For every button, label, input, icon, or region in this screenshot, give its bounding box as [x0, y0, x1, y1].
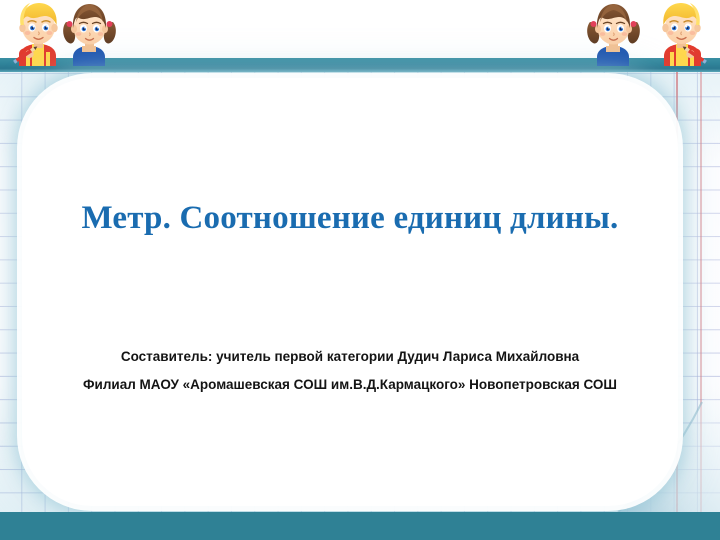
- page-title: Метр. Соотношение единиц длины.: [22, 200, 678, 238]
- teal-footer-bar: [0, 512, 720, 540]
- byline-block: Составитель: учитель первой категории Ду…: [50, 346, 650, 396]
- kids-illustration-left: [10, 0, 134, 66]
- byline-author: Составитель: учитель первой категории Ду…: [50, 346, 650, 368]
- content-card: Метр. Соотношение единиц длины. Составит…: [22, 78, 678, 506]
- boy-with-pencil-icon: [13, 3, 58, 66]
- kids-illustration-right: [586, 0, 710, 66]
- boy-with-pencil-icon: [662, 3, 707, 66]
- byline-school: Филиал МАОУ «Аромашевская СОШ им.В.Д.Кар…: [50, 374, 650, 396]
- red-margin-rule-secondary: [700, 72, 702, 512]
- slide-canvas: Метр. Соотношение единиц длины. Составит…: [0, 0, 720, 540]
- girl-with-pigtails-icon: [587, 4, 640, 66]
- girl-with-pigtails-icon: [63, 4, 116, 66]
